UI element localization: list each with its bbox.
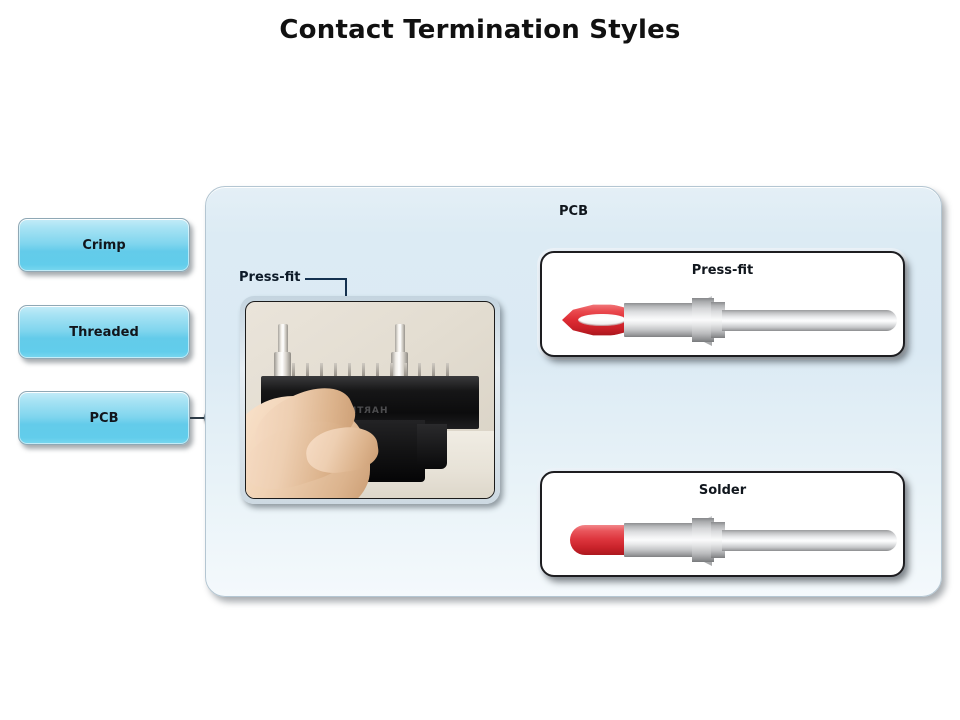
sidebar-item-threaded[interactable]: Threaded [18,305,190,359]
panel-title: PCB [206,204,941,219]
contact-illustration-solder [554,511,899,569]
sidebar-item-label: PCB [90,411,119,426]
callout-line-horizontal [305,278,347,280]
photo-connector-tab [417,424,447,469]
contact-illustration-press-fit [554,291,899,349]
callout-label-press-fit: Press-fit [239,270,300,285]
connector-photo: HARTING [245,301,495,499]
contact-card-title: Solder [542,483,903,498]
contact-card-title: Press-fit [542,263,903,278]
contact-body [624,523,694,557]
sidebar-item-crimp[interactable]: Crimp [18,218,190,272]
slide-canvas: Contact Termination Styles Crimp Threade… [0,0,960,720]
photo-frame: HARTING [240,296,500,504]
contact-mating-pin [722,530,897,551]
page-title: Contact Termination Styles [0,15,960,45]
sidebar-item-label: Threaded [69,325,139,340]
contact-body [624,303,694,337]
sidebar-item-pcb[interactable]: PCB [18,391,190,445]
contact-card-press-fit[interactable]: Press-fit [540,251,905,357]
contact-mating-pin [722,310,897,331]
contact-card-solder[interactable]: Solder [540,471,905,577]
sidebar-item-label: Crimp [82,238,125,253]
